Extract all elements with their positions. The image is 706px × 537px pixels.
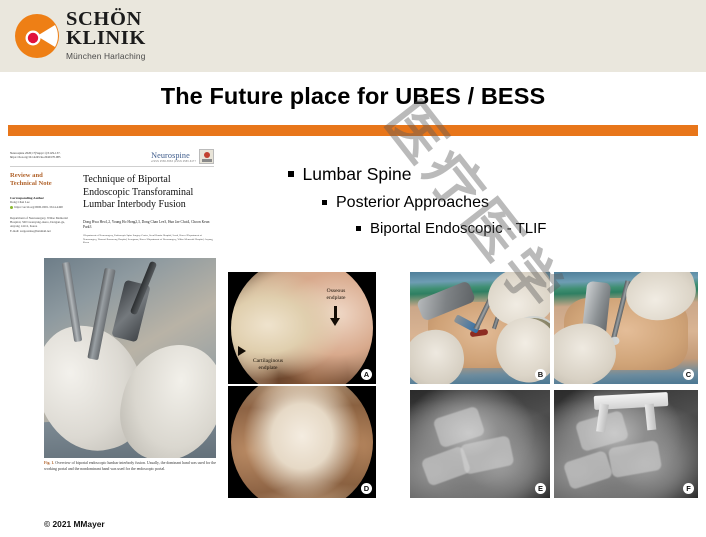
brand-name-line2: KLINIK [66, 29, 192, 48]
panel-label: F [683, 483, 694, 494]
panel-c-operating-room-photo: C [554, 272, 698, 384]
cartilaginous-endplate-label: Cartilaginousendplate [244, 358, 292, 372]
bullet-list: Lumbar Spine Posterior Approaches Biport… [288, 164, 698, 237]
figure-caption: Fig. 1. Overview of biportal endoscopic … [44, 461, 216, 472]
bullet-label: Lumbar Spine [303, 164, 412, 185]
schoen-klinik-logo: SCHÖN KLINIK München Harlaching [14, 10, 194, 64]
presentation-slide: SCHÖN KLINIK München Harlaching The Futu… [0, 0, 706, 537]
panel-e-fluoroscopy-image: E [410, 390, 550, 498]
article-affiliations: 1Department of Neurosurgery, Endoscopic … [83, 234, 214, 245]
slide-header-band: SCHÖN KLINIK München Harlaching [0, 0, 706, 72]
endoscope-field-of-view [231, 386, 373, 498]
journal-name: Neurospine [151, 151, 196, 160]
journal-masthead: Neurospine eISSN 2586-6583 pISSN 2586-64… [151, 149, 214, 164]
panel-label: E [535, 483, 546, 494]
corresponding-email: E-mail: surgeonlee@hanmail.net [10, 229, 73, 233]
orange-accent-bar [8, 125, 698, 136]
panel-d-endoscopic-view: D [228, 386, 376, 498]
slide-footer-copyright: © 2021 MMayer [44, 519, 105, 529]
corresponding-author-name: Dong Chan Lee [10, 200, 73, 204]
panel-label: B [535, 369, 546, 380]
panel-f-fluoroscopy-image: F [554, 390, 698, 498]
page-title: The Future place for UBES / BESS [0, 83, 706, 110]
osseous-endplate-label: Osseousendplate [314, 288, 358, 302]
bullet-square-icon [356, 226, 361, 231]
article-doi-line: Neurospine 2020;17(Suppl 1):S129-137. ht… [10, 151, 102, 160]
bullet-label: Biportal Endoscopic - TLIF [370, 220, 546, 237]
panel-label: C [683, 369, 694, 380]
figure-caption-text: Overview of biportal endoscopic lumbar i… [44, 461, 216, 471]
journal-article-figure: Neurospine 2020;17(Suppl 1):S129-137. ht… [6, 148, 218, 506]
orcid-row: https://orcid.org/0000-0001-5614-4490 [10, 205, 73, 209]
corresponding-affiliation: Department of Neurosurgery, Wiltse Memor… [10, 216, 73, 229]
article-authors: Dong Hwa Heo1,2, Young Ho Hong2,3, Dong … [83, 220, 214, 230]
article-type-line2: Technical Note [10, 180, 73, 188]
panel-label: D [361, 483, 372, 494]
article-left-column: Review and Technical Note Corresponding … [10, 172, 73, 233]
bullet-square-icon [322, 200, 327, 205]
panel-b-operating-room-photo: B [410, 272, 550, 384]
panel-label: A [361, 369, 372, 380]
schoen-klinik-wordmark: SCHÖN KLINIK München Harlaching [66, 10, 192, 61]
article-right-column: Technique of Biportal Endoscopic Transfo… [83, 174, 214, 245]
bullet-label: Posterior Approaches [336, 194, 489, 212]
triangle-marker-icon [238, 346, 246, 356]
brand-location: München Harlaching [66, 51, 192, 61]
article-figure-photo [44, 258, 216, 458]
panel-a-endoscopic-view: Osseousendplate Cartilaginousendplate A [228, 272, 376, 384]
article-rule [10, 166, 214, 167]
bullet-level3: Biportal Endoscopic - TLIF [356, 220, 698, 237]
bullet-level2: Posterior Approaches [322, 194, 698, 212]
article-title: Technique of Biportal Endoscopic Transfo… [83, 174, 214, 212]
bullet-level1: Lumbar Spine [288, 164, 698, 185]
figure-label: Fig. 1. [44, 461, 54, 465]
orcid-icon [10, 206, 13, 209]
neurospine-journal-logo-icon [199, 149, 214, 164]
schoen-klinik-circle-logo-icon [14, 13, 60, 59]
orcid-link: https://orcid.org/0000-0001-5614-4490 [14, 205, 63, 209]
article-type-line1: Review and [10, 172, 73, 180]
journal-issn: eISSN 2586-6583 pISSN 2586-6477 [151, 160, 196, 163]
bullet-square-icon [288, 171, 294, 177]
